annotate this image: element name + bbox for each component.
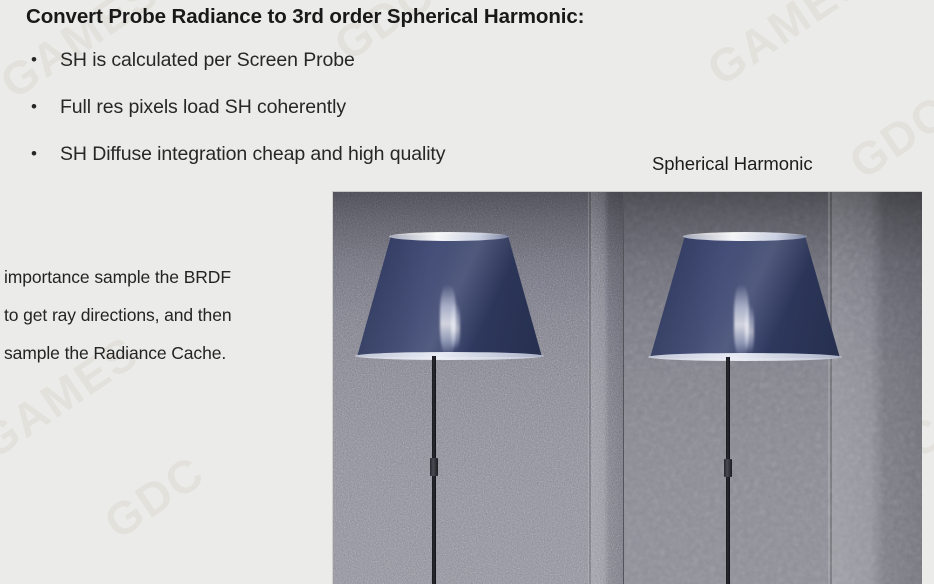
bullet-marker-icon: • <box>31 95 37 119</box>
slide-canvas: GAMES GDC GAMES TO GAMES GDC GAMES GDC G… <box>0 0 934 584</box>
list-item-label: SH is calculated per Screen Probe <box>60 49 355 71</box>
left-note-line: to get ray directions, and then <box>4 296 324 334</box>
spherical-harmonic-lamp-render-image <box>623 192 922 584</box>
lamp-shade-highlight <box>451 302 460 350</box>
list-item-label: SH Diffuse integration cheap and high qu… <box>60 143 445 165</box>
watermark-text: GDC <box>94 444 214 549</box>
page-title: Convert Probe Radiance to 3rd order Sphe… <box>26 2 906 32</box>
noisy-lamp-render-image <box>333 192 623 584</box>
right-image-caption: Spherical Harmonic <box>652 153 813 175</box>
lamp-shade-highlight <box>745 304 754 354</box>
list-item: • SH Diffuse integration cheap and high … <box>24 142 624 166</box>
lamp-pole-joint <box>430 458 438 476</box>
list-item: • SH is calculated per Screen Probe <box>24 48 624 72</box>
list-item-label: Full res pixels load SH coherently <box>60 96 346 118</box>
bullet-marker-icon: • <box>31 48 37 72</box>
watermark-text: GDC <box>839 84 934 189</box>
lamp-pole-joint <box>724 459 732 477</box>
lamp-shade-top-rim <box>683 232 807 241</box>
comparison-image-pair <box>332 191 922 584</box>
left-note-paragraph: importance sample the BRDF to get ray di… <box>4 258 324 372</box>
lamp-shade-top-rim <box>389 232 509 241</box>
list-item: • Full res pixels load SH coherently <box>24 95 624 119</box>
left-note-line: importance sample the BRDF <box>4 258 324 296</box>
left-note-line: sample the Radiance Cache. <box>4 334 324 372</box>
bullet-marker-icon: • <box>31 142 37 166</box>
bullet-list: • SH is calculated per Screen Probe • Fu… <box>24 48 624 189</box>
